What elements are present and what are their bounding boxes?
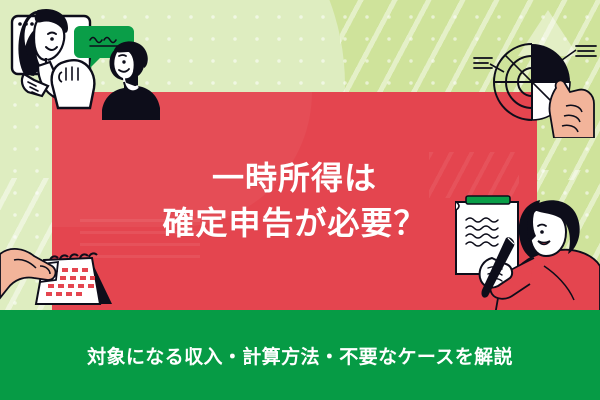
illustration-video-call	[4, 2, 184, 120]
green-subtitle-bar: 対象になる収入・計算方法・不要なケースを解説	[0, 310, 600, 400]
subtitle-text: 対象になる収入・計算方法・不要なケースを解説	[87, 342, 513, 369]
title-line-1: 一時所得は	[212, 158, 377, 199]
hand-gesture-icon	[52, 60, 95, 108]
illustration-woman-writing	[448, 186, 600, 321]
infographic-banner: 一時所得は 確定申告が必要？	[0, 0, 600, 400]
title-line-2: 確定申告が必要？	[162, 203, 426, 244]
illustration-pie-chart	[470, 28, 600, 138]
hand-pointer-icon	[549, 80, 594, 138]
